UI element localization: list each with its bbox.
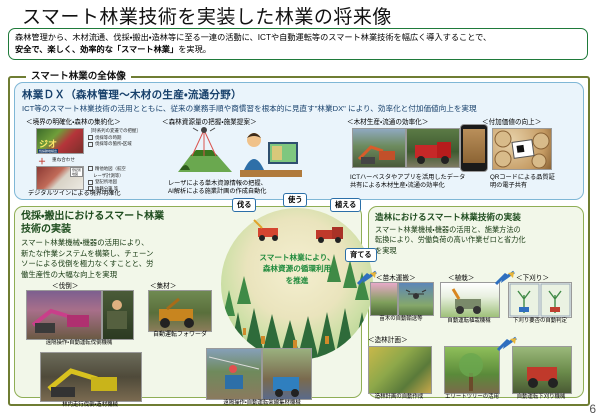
autonomous-forwarder-photo [148, 290, 212, 332]
dx-heading: 林業ＤＸ（森林管理～木材の生産・流通分野） [22, 87, 576, 102]
afforestation-heading: 造林におけるスマート林業技術の実装 [375, 211, 577, 223]
dx-caption-value: QRコードによる品質証 明の電子共有 [490, 174, 555, 191]
caption-remote-felling: 遠隔操作・自動運転伐倒機械 [26, 340, 132, 347]
lead-line-1: 森林管理から、木材流通、伐採・搬出・造林等に至る一連の活動に、ICTや自動運転等… [15, 32, 581, 44]
map-item-0: 精他地図（航空 [88, 166, 126, 173]
checklist-item-1: 伐採等の箇所・区域 [88, 141, 141, 148]
harvester-icon [250, 218, 290, 242]
frame-label: スマート林業の全体像 [26, 68, 131, 82]
dx-subtitle: ICT等のスマート林業技術の活用とともに、従来の業務手順や商慣習を根本的に見直す… [22, 103, 576, 114]
cycle-center-text: スマート林業により、 森林資源の循環利用 を推進 [232, 252, 362, 286]
afforestation-subtitle: スマート林業機械・機器の活用と、施業方法の 転換により、労働負荷の高い作業ゼロと… [375, 225, 577, 256]
map-item-2: 登記所地図 [88, 179, 126, 186]
planning-map-photo [368, 346, 432, 394]
remote-felling-photo [26, 290, 102, 340]
badge-use: 使う [283, 193, 307, 207]
weeding-judgement-photo [508, 282, 572, 318]
arrow-icon-elite-tree [496, 336, 518, 354]
elite-tree-photo [444, 346, 500, 394]
lead-line-2: 安全で、楽しく、効率的な「スマート林業」を実現。 [15, 44, 581, 56]
harvesting-subtitle: スマート林業機械・機器の活用により、 新たな作業システムを構築し、チェーン ソー… [21, 238, 219, 281]
caption-planning-auto: 造林計画の自動作成 [364, 394, 434, 401]
section-label-yarding: ＜集材＞ [150, 280, 176, 290]
caption-weeding-judgement: 下刈り要否の自動判定 [506, 318, 574, 325]
qr-code-logs-photo [492, 128, 552, 170]
caption-elite-tree: エリートツリーの活用 [440, 394, 504, 401]
map-source-checklist: 精他地図（航空 レーザ計測等） 登記所地図 地籍分筆 等 [88, 166, 126, 192]
checklist-title: ［時系列の変遷での把握］ [88, 128, 141, 135]
caption-autonomous-weeder: 自動運転下刈り機械 [508, 394, 574, 401]
arrow-icon-planting [356, 270, 378, 288]
in-forest-felling-machine-photo [40, 352, 142, 402]
arrow-icon-weeding [494, 270, 516, 288]
lead-summary-box: 森林管理から、木材流通、伐採・搬出・造林等に至る一連の活動に、ICTや自動運転等… [8, 28, 588, 60]
caption-seedling-transport: 苗木の自動輸送等 [368, 316, 434, 323]
badge-grow: 育てる [345, 248, 377, 262]
dx-col-header-value: ＜付加価値の向上＞ [482, 116, 541, 126]
forestry-dx-panel: 林業ＤＸ（森林管理～木材の生産・流通分野） ICT等のスマート林業技術の活用とと… [14, 82, 584, 200]
section-label-planning: ＜造林計画＞ [368, 334, 408, 344]
overlay-label: 重ね合わせ [52, 157, 75, 164]
aerial-photo-upper: ジオ 伐採跡地検出 [36, 128, 84, 154]
map-photo-lower: 登記所地図 [36, 166, 84, 190]
badge-plant: 植える [330, 198, 361, 212]
section-label-seedling-transport: ＜苗木運搬＞ [376, 272, 416, 282]
badge-cut: 伐る [232, 198, 256, 212]
dx-caption-production: ICTハーベスタやアプリを活用したデータ 共有による木材生産・流通の効率化 [350, 174, 465, 191]
dx-caption-resource: レーザによる単木資源情報の把握、 AI解析による施業計画の作成自動化 [168, 180, 267, 197]
timber-truck-photo [406, 128, 460, 168]
laser-scan-illustration [170, 126, 240, 178]
lead-tail-text: を実現。 [178, 45, 211, 54]
timeseries-checklist: ［時系列の変遷での把握］ 伐採等の時期 伐採等の箇所・区域 [88, 128, 141, 148]
section-label-planting: ＜植栽＞ [448, 272, 474, 282]
cable-yarding-photo [206, 348, 262, 400]
dx-columns: ＜境界の明確化・森林の集約化＞ ＜森林資源量の把握・施業提案＞ ＜木材生産・流通… [22, 116, 576, 202]
ict-harvester-photo [352, 128, 406, 168]
page-title: スマート林業技術を実装した林業の将来像 [22, 2, 392, 29]
caption-cable-yarding: 遠隔操作・自動運転架線集材機械 [200, 400, 324, 407]
dx-col-header-resource: ＜森林資源量の把握・施業提案＞ [162, 116, 257, 126]
dx-col-header-production: ＜木材生産・流通の効率化＞ [347, 116, 428, 126]
mobile-app-photo [460, 124, 488, 172]
section-label-felling: ＜伐倒＞ [52, 280, 78, 290]
page-number: 6 [589, 402, 596, 416]
autonomous-planting-machine-photo [440, 282, 500, 318]
dx-col-header-boundary: ＜境界の明確化・森林の集約化＞ [26, 116, 121, 126]
caption-autonomous-forwarder: 自動運転フォワーダ [140, 332, 220, 340]
analyst-at-computer-illustration [240, 126, 302, 178]
drone-transport-photo [398, 282, 434, 316]
dx-caption-boundary: デジタルツインによる境界明確化 [28, 190, 121, 198]
cable-yarding-photo-2 [262, 348, 312, 400]
caption-in-forest-felling: 林内走行伐倒・造材機械 [38, 402, 142, 409]
caption-autonomous-planting: 自動運転植栽機械 [438, 318, 500, 325]
lead-bold-text: 安全で、楽しく、効率的な「スマート林業」 [15, 45, 178, 54]
autonomous-weeder-photo [512, 346, 572, 394]
truck-icon [312, 222, 348, 244]
section-label-weeding: ＜下刈り＞ [516, 272, 549, 282]
felling-photo-secondary [102, 290, 134, 340]
